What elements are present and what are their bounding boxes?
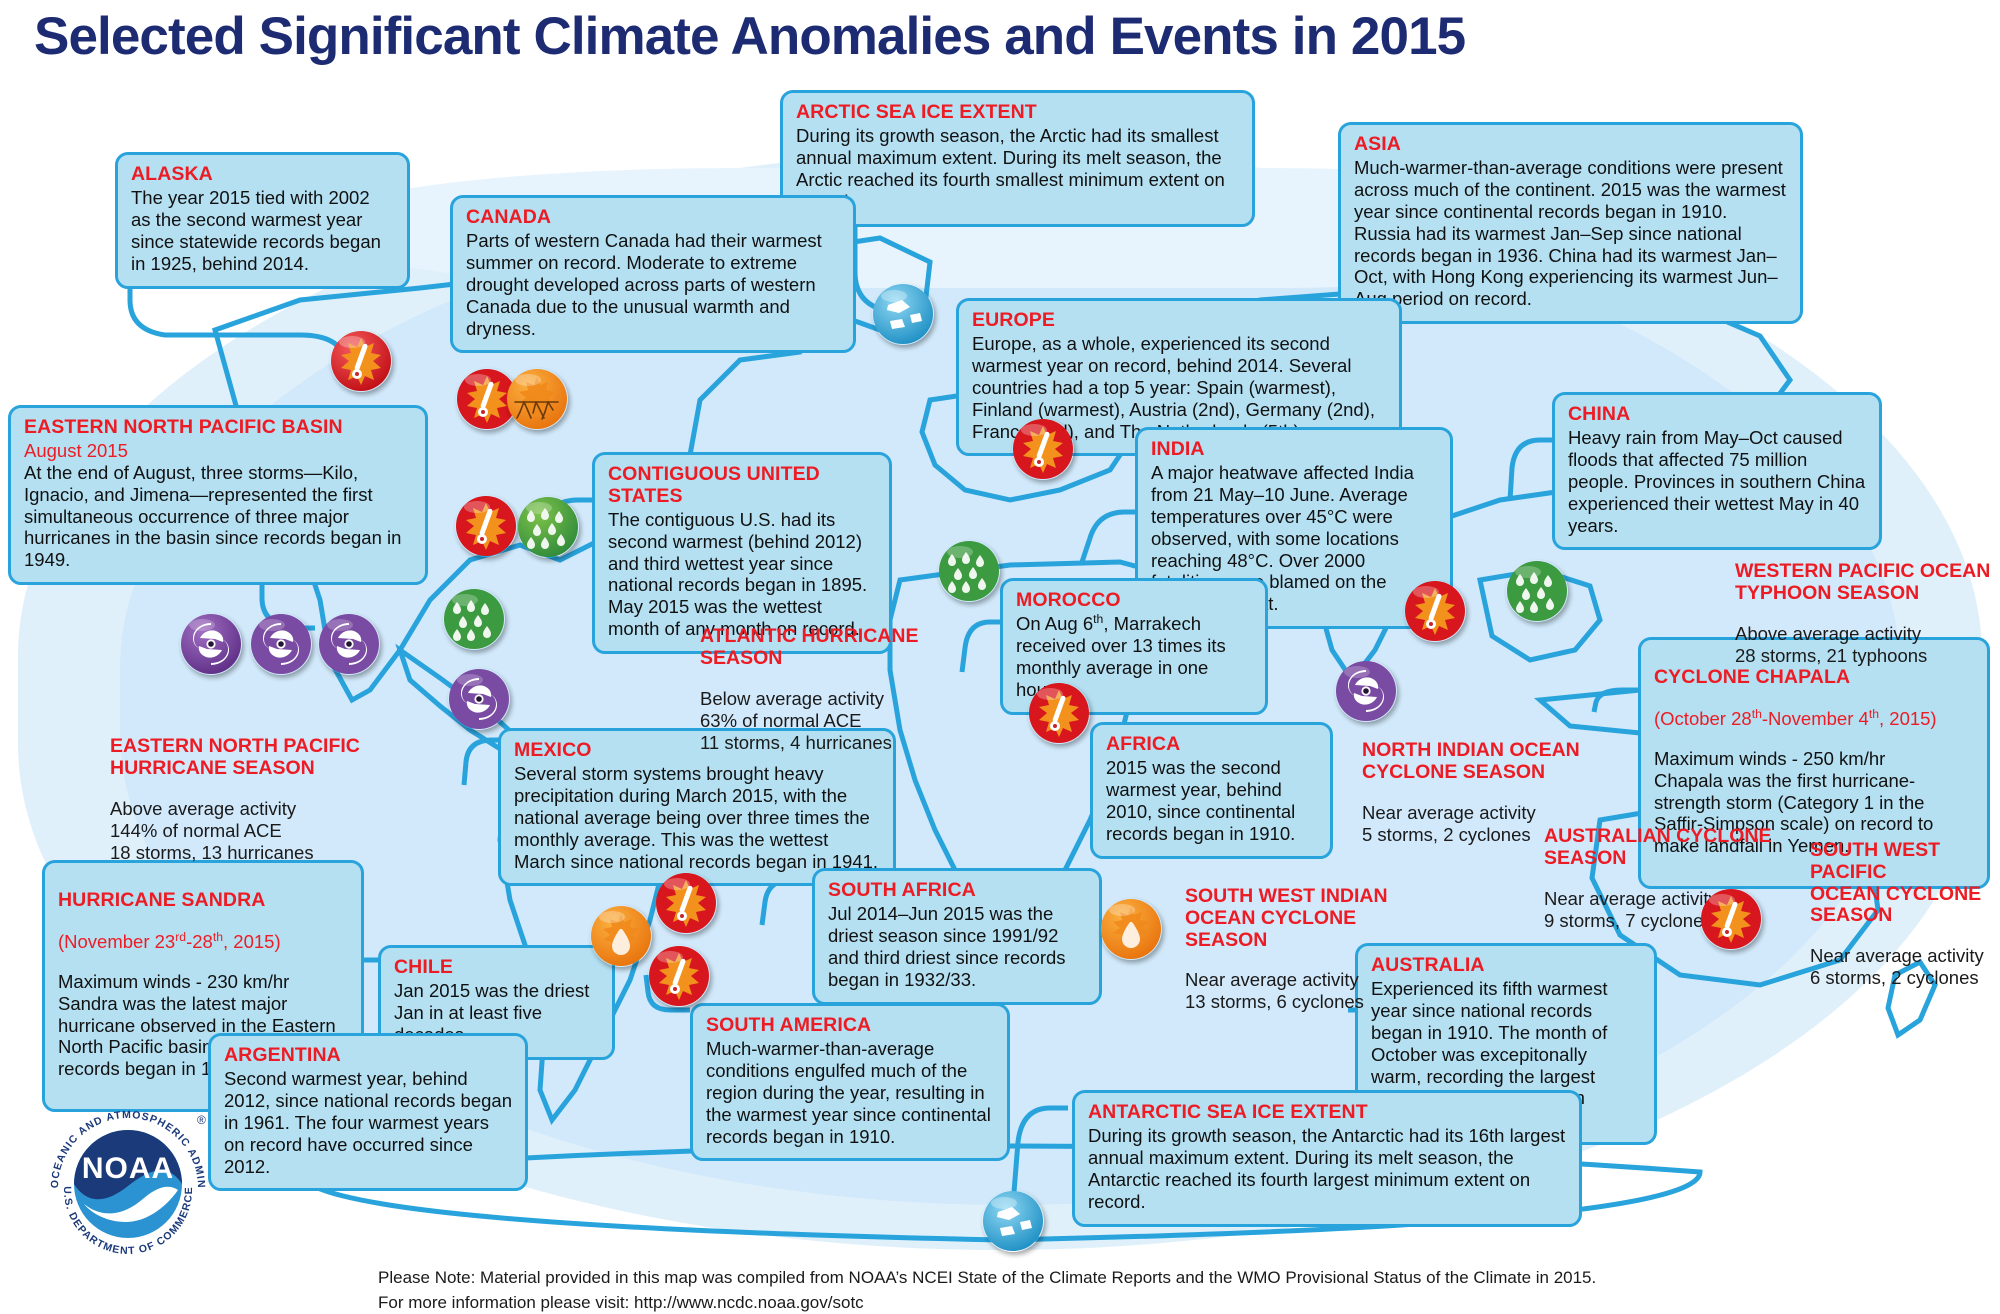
warm-temperature-icon[interactable] <box>1700 888 1762 950</box>
label-heading: ATLANTIC HURRICANE SEASON <box>700 626 980 670</box>
label-south-west-pacific-ocean-cyclone-season: SOUTH WEST PACIFIC OCEAN CYCLONE SEASON … <box>1810 822 2000 1007</box>
callout-heading: SOUTH AMERICA <box>706 1015 994 1037</box>
callout-body: Parts of western Canada had their warmes… <box>466 230 840 340</box>
wet-precipitation-icon[interactable] <box>443 588 505 650</box>
callout-antarctic-sea-ice-extent[interactable]: ANTARCTIC SEA ICE EXTENT During its grow… <box>1072 1090 1582 1227</box>
page-title: Selected Significant Climate Anomalies a… <box>34 6 1465 67</box>
callout-heading: AFRICA <box>1106 734 1317 756</box>
callout-south-africa[interactable]: SOUTH AFRICA Jul 2014–Jun 2015 was the d… <box>812 868 1102 1005</box>
callout-heading: CONTIGUOUS UNITED STATES <box>608 464 876 508</box>
label-body: Below average activity 63% of normal ACE… <box>700 688 980 754</box>
footer-note: Please Note: Material provided in this m… <box>378 1265 1596 1314</box>
callout-heading: CHINA <box>1568 404 1866 426</box>
label-heading: AUSTRALIAN CYCLONE SEASON <box>1544 826 1784 870</box>
callout-asia[interactable]: ASIA Much-warmer-than-average conditions… <box>1338 122 1803 324</box>
wet-precipitation-icon[interactable] <box>1506 560 1568 622</box>
label-western-pacific-ocean-typhoon-season: WESTERN PACIFIC OCEAN TYPHOON SEASON Abo… <box>1735 543 2000 685</box>
callout-africa[interactable]: AFRICA 2015 was the second warmest year,… <box>1090 722 1333 859</box>
warm-temperature-icon[interactable] <box>455 495 517 557</box>
warm-temperature-icon[interactable] <box>1028 682 1090 744</box>
label-heading: NORTH INDIAN OCEAN CYCLONE SEASON <box>1362 740 1627 784</box>
callout-heading: ALASKA <box>131 164 394 186</box>
warm-temperature-icon[interactable] <box>655 872 717 934</box>
callout-body: Jul 2014–Jun 2015 was the driest season … <box>828 903 1086 991</box>
cyclone-icon[interactable] <box>1335 660 1397 722</box>
label-body: Near average activity 6 storms, 2 cyclon… <box>1810 945 2000 989</box>
callout-body: Heavy rain from May–Oct caused floods th… <box>1568 427 1866 537</box>
callout-eastern-north-pacific-basin[interactable]: EASTERN NORTH PACIFIC BASIN August 2015 … <box>8 405 428 585</box>
wet-precipitation-icon[interactable] <box>517 496 579 558</box>
callout-heading: INDIA <box>1151 439 1437 461</box>
callout-body: 2015 was the second warmest year, behind… <box>1106 757 1317 845</box>
footer-line-2: For more information please visit: http:… <box>378 1290 1596 1314</box>
cyclone-icon[interactable] <box>180 613 242 675</box>
callout-body: Several storm systems brought heavy prec… <box>514 763 880 873</box>
callout-body: During its growth season, the Arctic had… <box>796 125 1239 213</box>
callout-subtitle: (November 23rd-28th, 2015) <box>58 931 348 953</box>
label-south-west-indian-ocean-cyclone-season: SOUTH WEST INDIAN OCEAN CYCLONE SEASON N… <box>1185 868 1415 1031</box>
footer-line-1: Please Note: Material provided in this m… <box>378 1265 1596 1290</box>
registered-trademark-icon: ® <box>197 1113 206 1127</box>
sea-ice-icon[interactable] <box>872 283 934 345</box>
callout-heading: ANTARCTIC SEA ICE EXTENT <box>1088 1102 1566 1124</box>
label-body: Near average activity 13 storms, 6 cyclo… <box>1185 969 1415 1013</box>
cyclone-icon[interactable] <box>448 668 510 730</box>
drought-icon[interactable] <box>506 368 568 430</box>
callout-alaska[interactable]: ALASKA The year 2015 tied with 2002 as t… <box>115 152 410 289</box>
callout-subtitle: August 2015 <box>24 440 412 462</box>
callout-china[interactable]: CHINA Heavy rain from May–Oct caused flo… <box>1552 392 1882 550</box>
callout-heading: EUROPE <box>972 310 1386 332</box>
label-heading: SOUTH WEST PACIFIC OCEAN CYCLONE SEASON <box>1810 840 2000 927</box>
drought-icon[interactable] <box>590 905 652 967</box>
callout-body: Second warmest year, behind 2012, since … <box>224 1068 512 1178</box>
warm-temperature-icon[interactable] <box>1404 580 1466 642</box>
cyclone-icon[interactable] <box>318 613 380 675</box>
noaa-logo: NATIONAL OCEANIC AND ATMOSPHERIC ADMINIS… <box>38 1092 218 1272</box>
callout-heading: ARGENTINA <box>224 1045 512 1067</box>
cyclone-icon[interactable] <box>250 613 312 675</box>
label-heading: EASTERN NORTH PACIFIC HURRICANE SEASON <box>110 736 410 780</box>
callout-heading: CANADA <box>466 207 840 229</box>
label-body: Above average activity 28 storms, 21 typ… <box>1735 623 2000 667</box>
callout-body: Much-warmer-than-average conditions were… <box>1354 157 1787 310</box>
callout-heading: ASIA <box>1354 134 1787 156</box>
label-heading: SOUTH WEST INDIAN OCEAN CYCLONE SEASON <box>1185 886 1415 951</box>
callout-canada[interactable]: CANADA Parts of western Canada had their… <box>450 195 856 353</box>
drought-icon[interactable] <box>1100 898 1162 960</box>
callout-heading: CHILE <box>394 957 599 979</box>
label-heading: WESTERN PACIFIC OCEAN TYPHOON SEASON <box>1735 561 2000 605</box>
warm-temperature-icon[interactable] <box>1012 418 1074 480</box>
label-eastern-north-pacific-hurricane-season: EASTERN NORTH PACIFIC HURRICANE SEASON A… <box>110 718 410 882</box>
callout-heading: SOUTH AFRICA <box>828 880 1086 902</box>
noaa-wordmark: NOAA <box>82 1152 174 1185</box>
warm-temperature-icon[interactable] <box>648 945 710 1007</box>
climate-anomalies-poster: Selected Significant Climate Anomalies a… <box>0 0 2000 1314</box>
callout-heading: MOROCCO <box>1016 590 1252 612</box>
callout-body: The year 2015 tied with 2002 as the seco… <box>131 187 394 275</box>
callout-subtitle: (October 28th-November 4th, 2015) <box>1654 708 1974 730</box>
sea-ice-icon[interactable] <box>982 1190 1044 1252</box>
callout-heading: ARCTIC SEA ICE EXTENT <box>796 102 1239 124</box>
callout-south-america[interactable]: SOUTH AMERICA Much-warmer-than-average c… <box>690 1003 1010 1161</box>
callout-body: At the end of August, three storms—Kilo,… <box>24 462 412 572</box>
warm-temperature-icon[interactable] <box>330 330 392 392</box>
callout-heading: EASTERN NORTH PACIFIC BASIN <box>24 417 412 439</box>
wet-precipitation-icon[interactable] <box>938 540 1000 602</box>
label-body: Above average activity 144% of normal AC… <box>110 798 410 864</box>
callout-body: Much-warmer-than-average conditions engu… <box>706 1038 994 1148</box>
label-atlantic-hurricane-season: ATLANTIC HURRICANE SEASON Below average … <box>700 608 980 772</box>
callout-argentina[interactable]: ARGENTINA Second warmest year, behind 20… <box>208 1033 528 1191</box>
callout-heading: HURRICANE SANDRA <box>58 890 348 912</box>
callout-body: During its growth season, the Antarctic … <box>1088 1125 1566 1213</box>
